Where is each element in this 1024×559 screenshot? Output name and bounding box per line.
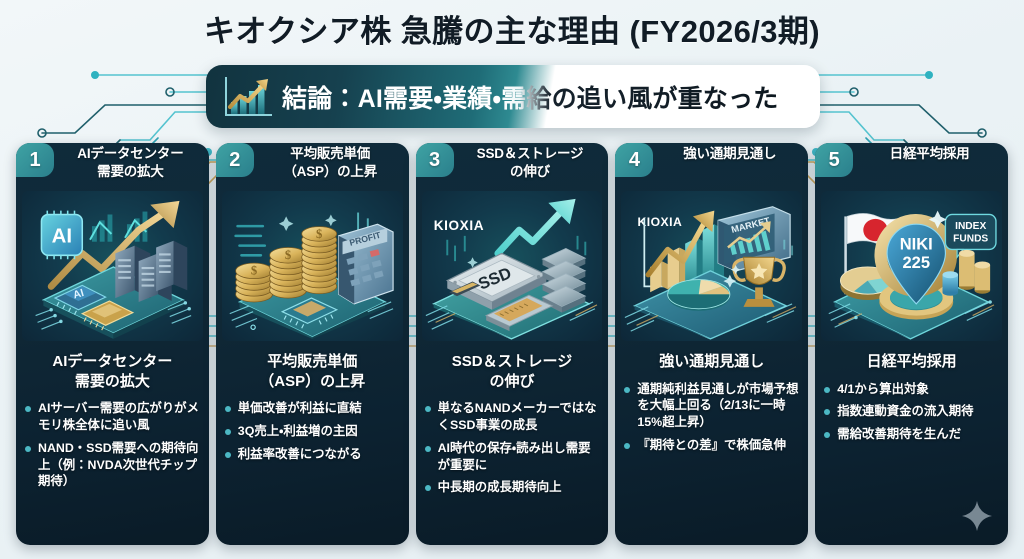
card-2-header: 2 平均販売単価 （ASP）の上昇: [216, 143, 409, 191]
card-3-head-title: SSD＆ストレージ の伸び: [456, 145, 605, 181]
card-3-title: SSD＆ストレージ の伸び: [422, 352, 603, 391]
list-item: 通期純利益見通しが市場予想を大幅上回る（2/13に一時15%超上昇）: [624, 381, 800, 432]
card-3-number-badge: 3: [416, 143, 454, 177]
conclusion-banner: 結論：AI需要・業績・需給の追い風が重なった: [206, 65, 820, 128]
reason-cards: 1 AIデータセンター 需要の拡大: [16, 143, 1008, 545]
card-3-head-title-line1: SSD＆ストレージ: [456, 145, 605, 163]
list-item: 中長期の成長期待向上: [425, 479, 601, 496]
card-5-head-title-line1: 日経平均採用: [855, 145, 1004, 163]
card-4-head-title: 強い通期見通し: [655, 145, 804, 163]
card-4-header: 4 強い通期見通し: [615, 143, 808, 191]
card-5[interactable]: 5 日経平均採用: [815, 143, 1008, 545]
card-1-head-title-line2: 需要の拡大: [56, 163, 205, 181]
card-5-bullets: 4/1から算出対象 指数連動資金の流入期待 需給改善期待を生んだ: [815, 379, 1008, 546]
svg-text:INDEX: INDEX: [955, 221, 986, 232]
banner-text: 結論：AI需要・業績・需給の追い風が重なった: [282, 79, 778, 115]
card-3[interactable]: 3 SSD＆ストレージ の伸び: [416, 143, 609, 545]
list-item: AIサーバー需要の広がりがメモリ株全体に追い風: [25, 400, 201, 434]
card-2-title-line1: 平均販売単価: [222, 352, 403, 372]
card-1[interactable]: 1 AIデータセンター 需要の拡大: [16, 143, 209, 545]
ssd-storage-illustration: KIOXIA: [422, 191, 603, 341]
card-3-bullets: 単なるNANDメーカーではなくSSD事業の成長 AI時代の保存・読み出し需要が重…: [416, 398, 609, 545]
card-2[interactable]: 2 平均販売単価 （ASP）の上昇: [216, 143, 409, 545]
card-4-bullets: 通期純利益見通しが市場予想を大幅上回る（2/13に一時15%超上昇） 『期待との…: [615, 379, 808, 546]
card-1-title-line2: 需要の拡大: [22, 372, 203, 392]
card-1-title: AIデータセンター 需要の拡大: [22, 352, 203, 391]
chart-growth-icon: [220, 74, 276, 120]
market-growth-trophy-illustration: KIOXIA: [621, 191, 802, 341]
card-5-head-title: 日経平均採用: [855, 145, 1004, 163]
svg-text:$: $: [251, 264, 257, 278]
svg-text:NIKI: NIKI: [900, 234, 933, 253]
list-item: 『期待との差』で株価急伸: [624, 437, 800, 454]
card-2-head-title-line2: （ASP）の上昇: [256, 163, 405, 181]
list-item: 利益率改善につながる: [225, 446, 401, 463]
card-2-head-title: 平均販売単価 （ASP）の上昇: [256, 145, 405, 181]
svg-text:225: 225: [903, 253, 931, 272]
card-1-head-title: AIデータセンター 需要の拡大: [56, 145, 205, 181]
svg-text:$: $: [285, 248, 291, 262]
card-5-title-line1: 日経平均採用: [821, 352, 1002, 372]
card-1-bullets: AIサーバー需要の広がりがメモリ株全体に追い風 NAND・SSD需要への期待向上…: [16, 398, 209, 545]
nikkei-index-illustration: NIKI 225 INDEX FUNDS: [821, 191, 1002, 341]
svg-text:FUNDS: FUNDS: [953, 234, 988, 245]
svg-text:AI: AI: [52, 226, 72, 248]
card-4-title: 強い通期見通し: [621, 352, 802, 372]
svg-text:KIOXIA: KIOXIA: [433, 218, 483, 233]
list-item: 4/1から算出対象: [824, 381, 1000, 398]
svg-text:$: $: [316, 227, 322, 241]
coins-calculator-illustration: $ $: [222, 191, 403, 341]
list-item: 需給改善期待を生んだ: [824, 426, 1000, 443]
card-4-head-title-line1: 強い通期見通し: [655, 145, 804, 163]
card-5-header: 5 日経平均採用: [815, 143, 1008, 191]
list-item: AI時代の保存・読み出し需要が重要に: [425, 440, 601, 474]
list-item: 3Q売上・利益増の主因: [225, 423, 401, 440]
page-title: キオクシア株 急騰の主な理由 (FY2026/3期): [0, 6, 1024, 51]
card-2-title-line2: （ASP）の上昇: [222, 372, 403, 392]
list-item: 単価改善が利益に直結: [225, 400, 401, 417]
card-5-number-badge: 5: [815, 143, 853, 177]
card-4[interactable]: 4 強い通期見通し: [615, 143, 808, 545]
card-3-head-title-line2: の伸び: [456, 163, 605, 181]
card-3-header: 3 SSD＆ストレージ の伸び: [416, 143, 609, 191]
infographic-root: キオクシア株 急騰の主な理由 (FY2026/3期) 結論：AI需要・業: [0, 0, 1024, 559]
card-1-number-badge: 1: [16, 143, 54, 177]
card-2-bullets: 単価改善が利益に直結 3Q売上・利益増の主因 利益率改善につながる: [216, 398, 409, 545]
card-5-title: 日経平均採用: [821, 352, 1002, 372]
list-item: 単なるNANDメーカーではなくSSD事業の成長: [425, 400, 601, 434]
card-1-header: 1 AIデータセンター 需要の拡大: [16, 143, 209, 191]
card-3-title-line2: の伸び: [422, 372, 603, 392]
ai-datacenter-illustration: AI: [22, 191, 203, 341]
list-item: NAND・SSD需要への期待向上（例：NVDA次世代チップ期待）: [25, 440, 201, 491]
card-2-head-title-line1: 平均販売単価: [256, 145, 405, 163]
card-3-title-line1: SSD＆ストレージ: [422, 352, 603, 372]
card-1-title-line1: AIデータセンター: [22, 352, 203, 372]
card-4-title-line1: 強い通期見通し: [621, 352, 802, 372]
card-4-number-badge: 4: [615, 143, 653, 177]
list-item: 指数連動資金の流入期待: [824, 403, 1000, 420]
card-2-number-badge: 2: [216, 143, 254, 177]
card-2-title: 平均販売単価 （ASP）の上昇: [222, 352, 403, 391]
card-1-head-title-line1: AIデータセンター: [56, 145, 205, 163]
